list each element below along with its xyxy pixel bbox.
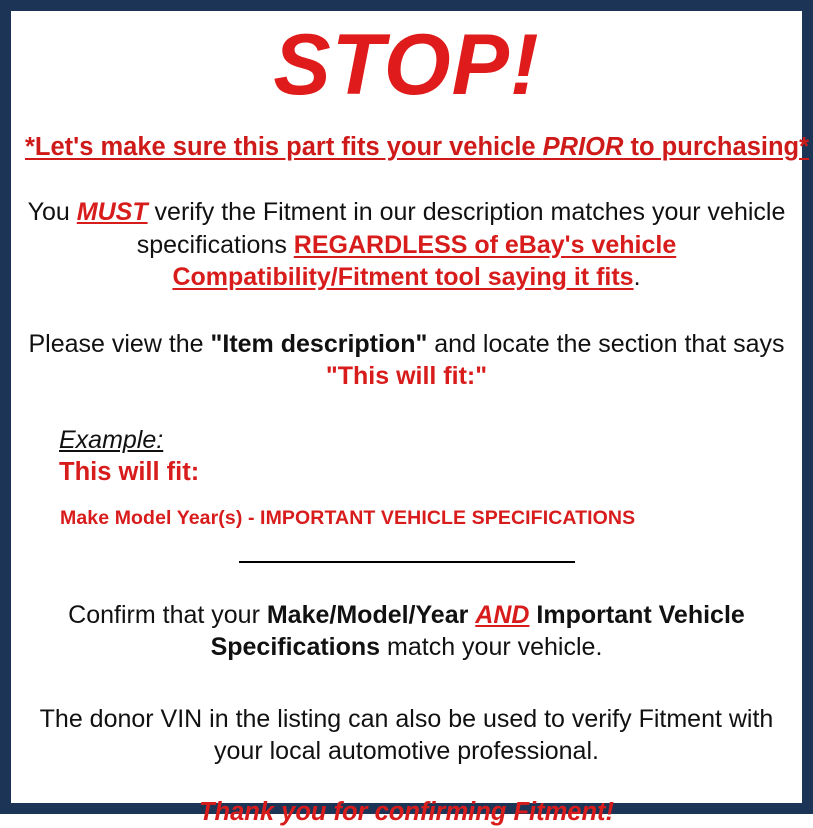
example-fit-line: This will fit: — [59, 455, 788, 488]
subtitle-emphasis-prior: PRIOR — [543, 133, 624, 161]
emphasis-item-description: "Item description" — [211, 330, 428, 358]
paragraph-donor-vin: The donor VIN in the listing can also be… — [25, 664, 788, 768]
paragraph-confirm: Confirm that your Make/Model/Year AND Im… — [25, 563, 788, 664]
example-label-row: Example: — [59, 426, 788, 456]
subtitle-tail: to purchasing* — [623, 133, 809, 161]
subtitle-line: *Let's make sure this part fits your veh… — [25, 110, 788, 163]
emphasis-this-will-fit: "This will fit:" — [326, 362, 487, 390]
closing-thank-you: Thank you for confirming Fitment! — [25, 767, 788, 828]
view-part2: and locate the section that says — [427, 330, 784, 358]
fitment-notice-card: STOP! *Let's make sure this part fits yo… — [0, 0, 813, 814]
must-part1: You — [28, 198, 77, 226]
view-part1: Please view the — [28, 330, 210, 358]
emphasis-make-model-year: Make/Model/Year — [267, 601, 468, 629]
emphasis-must: MUST — [77, 198, 148, 226]
example-spec-line: Make Model Year(s) - IMPORTANT VEHICLE S… — [59, 488, 788, 530]
stop-heading: STOP! — [25, 11, 788, 110]
paragraph-item-description: Please view the "Item description" and l… — [25, 293, 788, 393]
must-part3: . — [634, 263, 641, 291]
notice-body: STOP! *Let's make sure this part fits yo… — [11, 11, 802, 803]
divider-container — [25, 530, 788, 563]
example-block: Example: This will fit: Make Model Year(… — [25, 393, 788, 530]
confirm-part1: Confirm that your — [68, 601, 267, 629]
emphasis-and: AND — [475, 601, 529, 629]
subtitle-lead: *Let's make sure this part fits your veh… — [25, 133, 543, 161]
paragraph-must-verify: You MUST verify the Fitment in our descr… — [25, 162, 788, 293]
example-label: Example: — [59, 426, 163, 456]
confirm-part4: match your vehicle. — [380, 633, 602, 661]
